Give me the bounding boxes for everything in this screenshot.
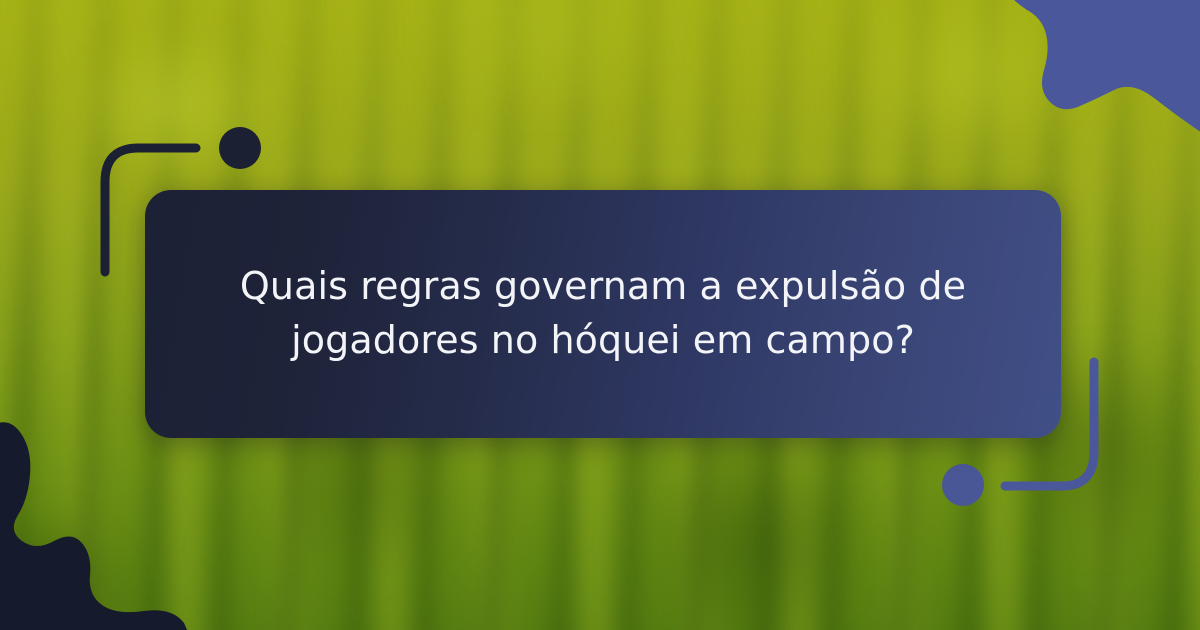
question-card: Quais regras governam a expulsão de joga… xyxy=(145,190,1061,438)
share-card-canvas: Quais regras governam a expulsão de joga… xyxy=(0,0,1200,630)
question-text: Quais regras governam a expulsão de joga… xyxy=(145,260,1061,368)
